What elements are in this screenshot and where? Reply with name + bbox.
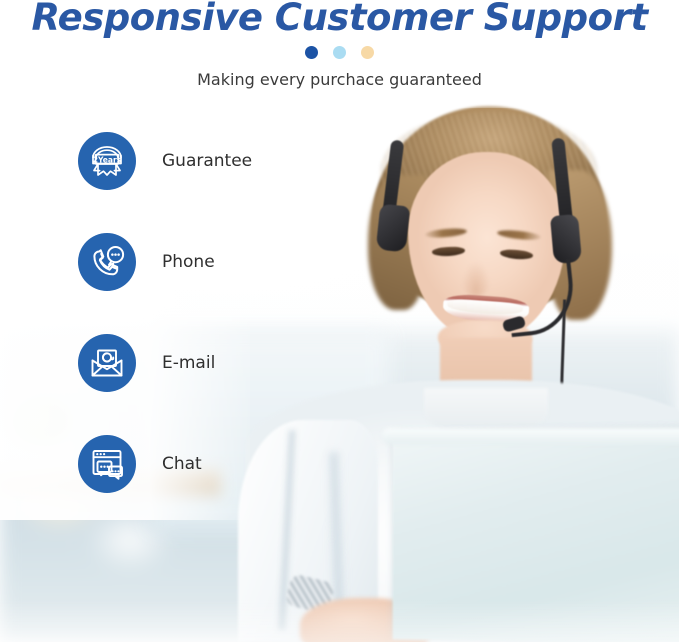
feature-item-email[interactable]: E-mail (78, 334, 338, 392)
envelope-at-icon (78, 334, 136, 392)
slide-dot-2[interactable] (333, 46, 346, 59)
customer-support-banner: Responsive Customer Support Making every… (0, 0, 679, 642)
slide-dot-3[interactable] (361, 46, 374, 59)
page-subtitle: Making every purchace guaranteed (0, 70, 679, 89)
feature-label-email: E-mail (162, 353, 215, 373)
slide-dot-1[interactable] (305, 46, 318, 59)
award-badge-icon: 2Years (78, 132, 136, 190)
feature-label-phone: Phone (162, 252, 215, 272)
feature-item-guarantee[interactable]: 2Years Guarantee (78, 132, 338, 190)
page-title: Responsive Customer Support (0, 0, 679, 39)
browser-chat-icon (78, 435, 136, 493)
phone-chat-icon (78, 233, 136, 291)
feature-label-chat: Chat (162, 454, 202, 474)
feature-label-guarantee: Guarantee (162, 151, 252, 171)
feature-item-phone[interactable]: Phone (78, 233, 338, 291)
badge-years-text: 2Years (93, 155, 122, 164)
feature-list: 2Years Guarantee (78, 132, 338, 536)
banner-content: Responsive Customer Support Making every… (0, 0, 679, 642)
feature-item-chat[interactable]: Chat (78, 435, 338, 493)
slide-indicator-dots[interactable] (0, 46, 679, 59)
